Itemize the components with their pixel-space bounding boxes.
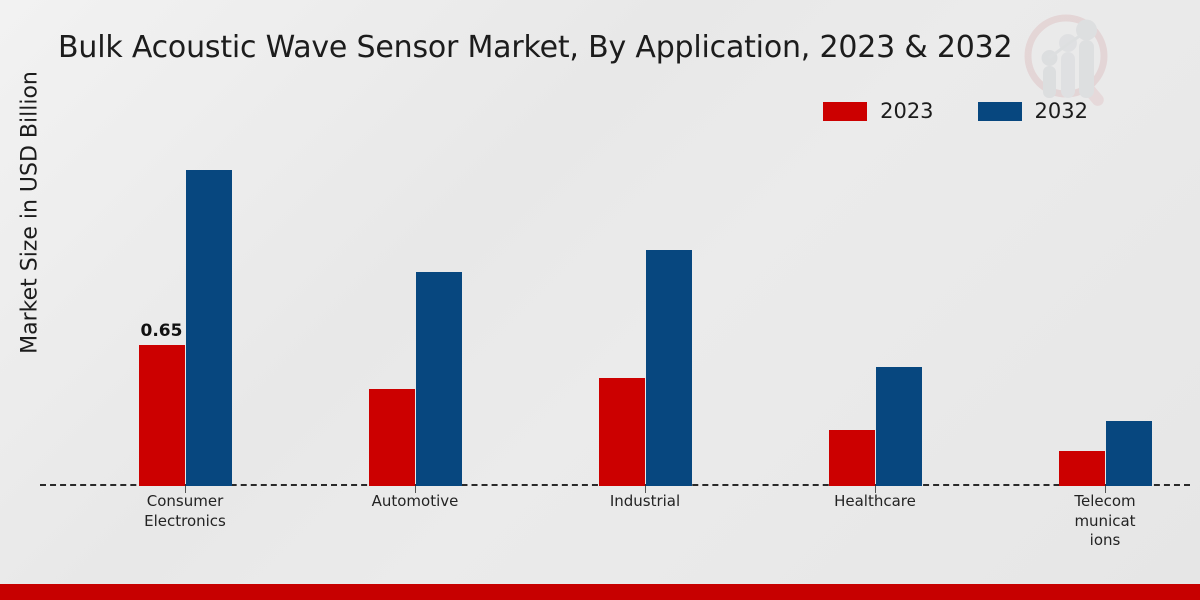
category-label: Automotive	[302, 492, 528, 512]
category-label: Healthcare	[762, 492, 988, 512]
bar-2032[interactable]	[1106, 421, 1152, 486]
category-label: Consumer Electronics	[72, 492, 298, 531]
bar-2032[interactable]	[876, 367, 922, 486]
bar-2023[interactable]	[1059, 451, 1105, 486]
legend-swatch-2023	[823, 102, 867, 121]
bar-value-label: 0.65	[141, 321, 183, 341]
bar-2032[interactable]	[416, 272, 462, 486]
legend-swatch-2032	[978, 102, 1022, 121]
category-label: Industrial	[532, 492, 758, 512]
bar-2023[interactable]	[369, 389, 415, 486]
bar-2023[interactable]	[599, 378, 645, 486]
bar-group: Automotive	[302, 140, 528, 486]
legend-label-2023: 2023	[880, 101, 933, 122]
category-label: Telecom municat ions	[992, 492, 1200, 551]
chart-canvas: Bulk Acoustic Wave Sensor Market, By App…	[0, 0, 1200, 600]
bar-2032[interactable]	[646, 250, 692, 486]
bar-group: 0.65 Consumer Electronics	[72, 140, 298, 486]
legend-item-2023[interactable]: 2023	[823, 101, 933, 122]
chart-legend: 2023 2032	[823, 101, 1088, 122]
plot-area: 0.65 Consumer Electronics Automotive	[40, 140, 1190, 486]
bar-group: Telecom municat ions	[992, 140, 1200, 486]
bar-2023[interactable]	[829, 430, 875, 486]
bar-group: Healthcare	[762, 140, 988, 486]
bar-2023[interactable]: 0.65	[139, 345, 185, 486]
y-axis-label: Market Size in USD Billion	[18, 33, 43, 393]
legend-item-2032[interactable]: 2032	[978, 101, 1088, 122]
legend-label-2032: 2032	[1035, 101, 1088, 122]
footer-accent-bar	[0, 584, 1200, 600]
bar-2032[interactable]	[186, 170, 232, 486]
bar-group: Industrial	[532, 140, 758, 486]
page-title: Bulk Acoustic Wave Sensor Market, By App…	[58, 30, 1012, 65]
